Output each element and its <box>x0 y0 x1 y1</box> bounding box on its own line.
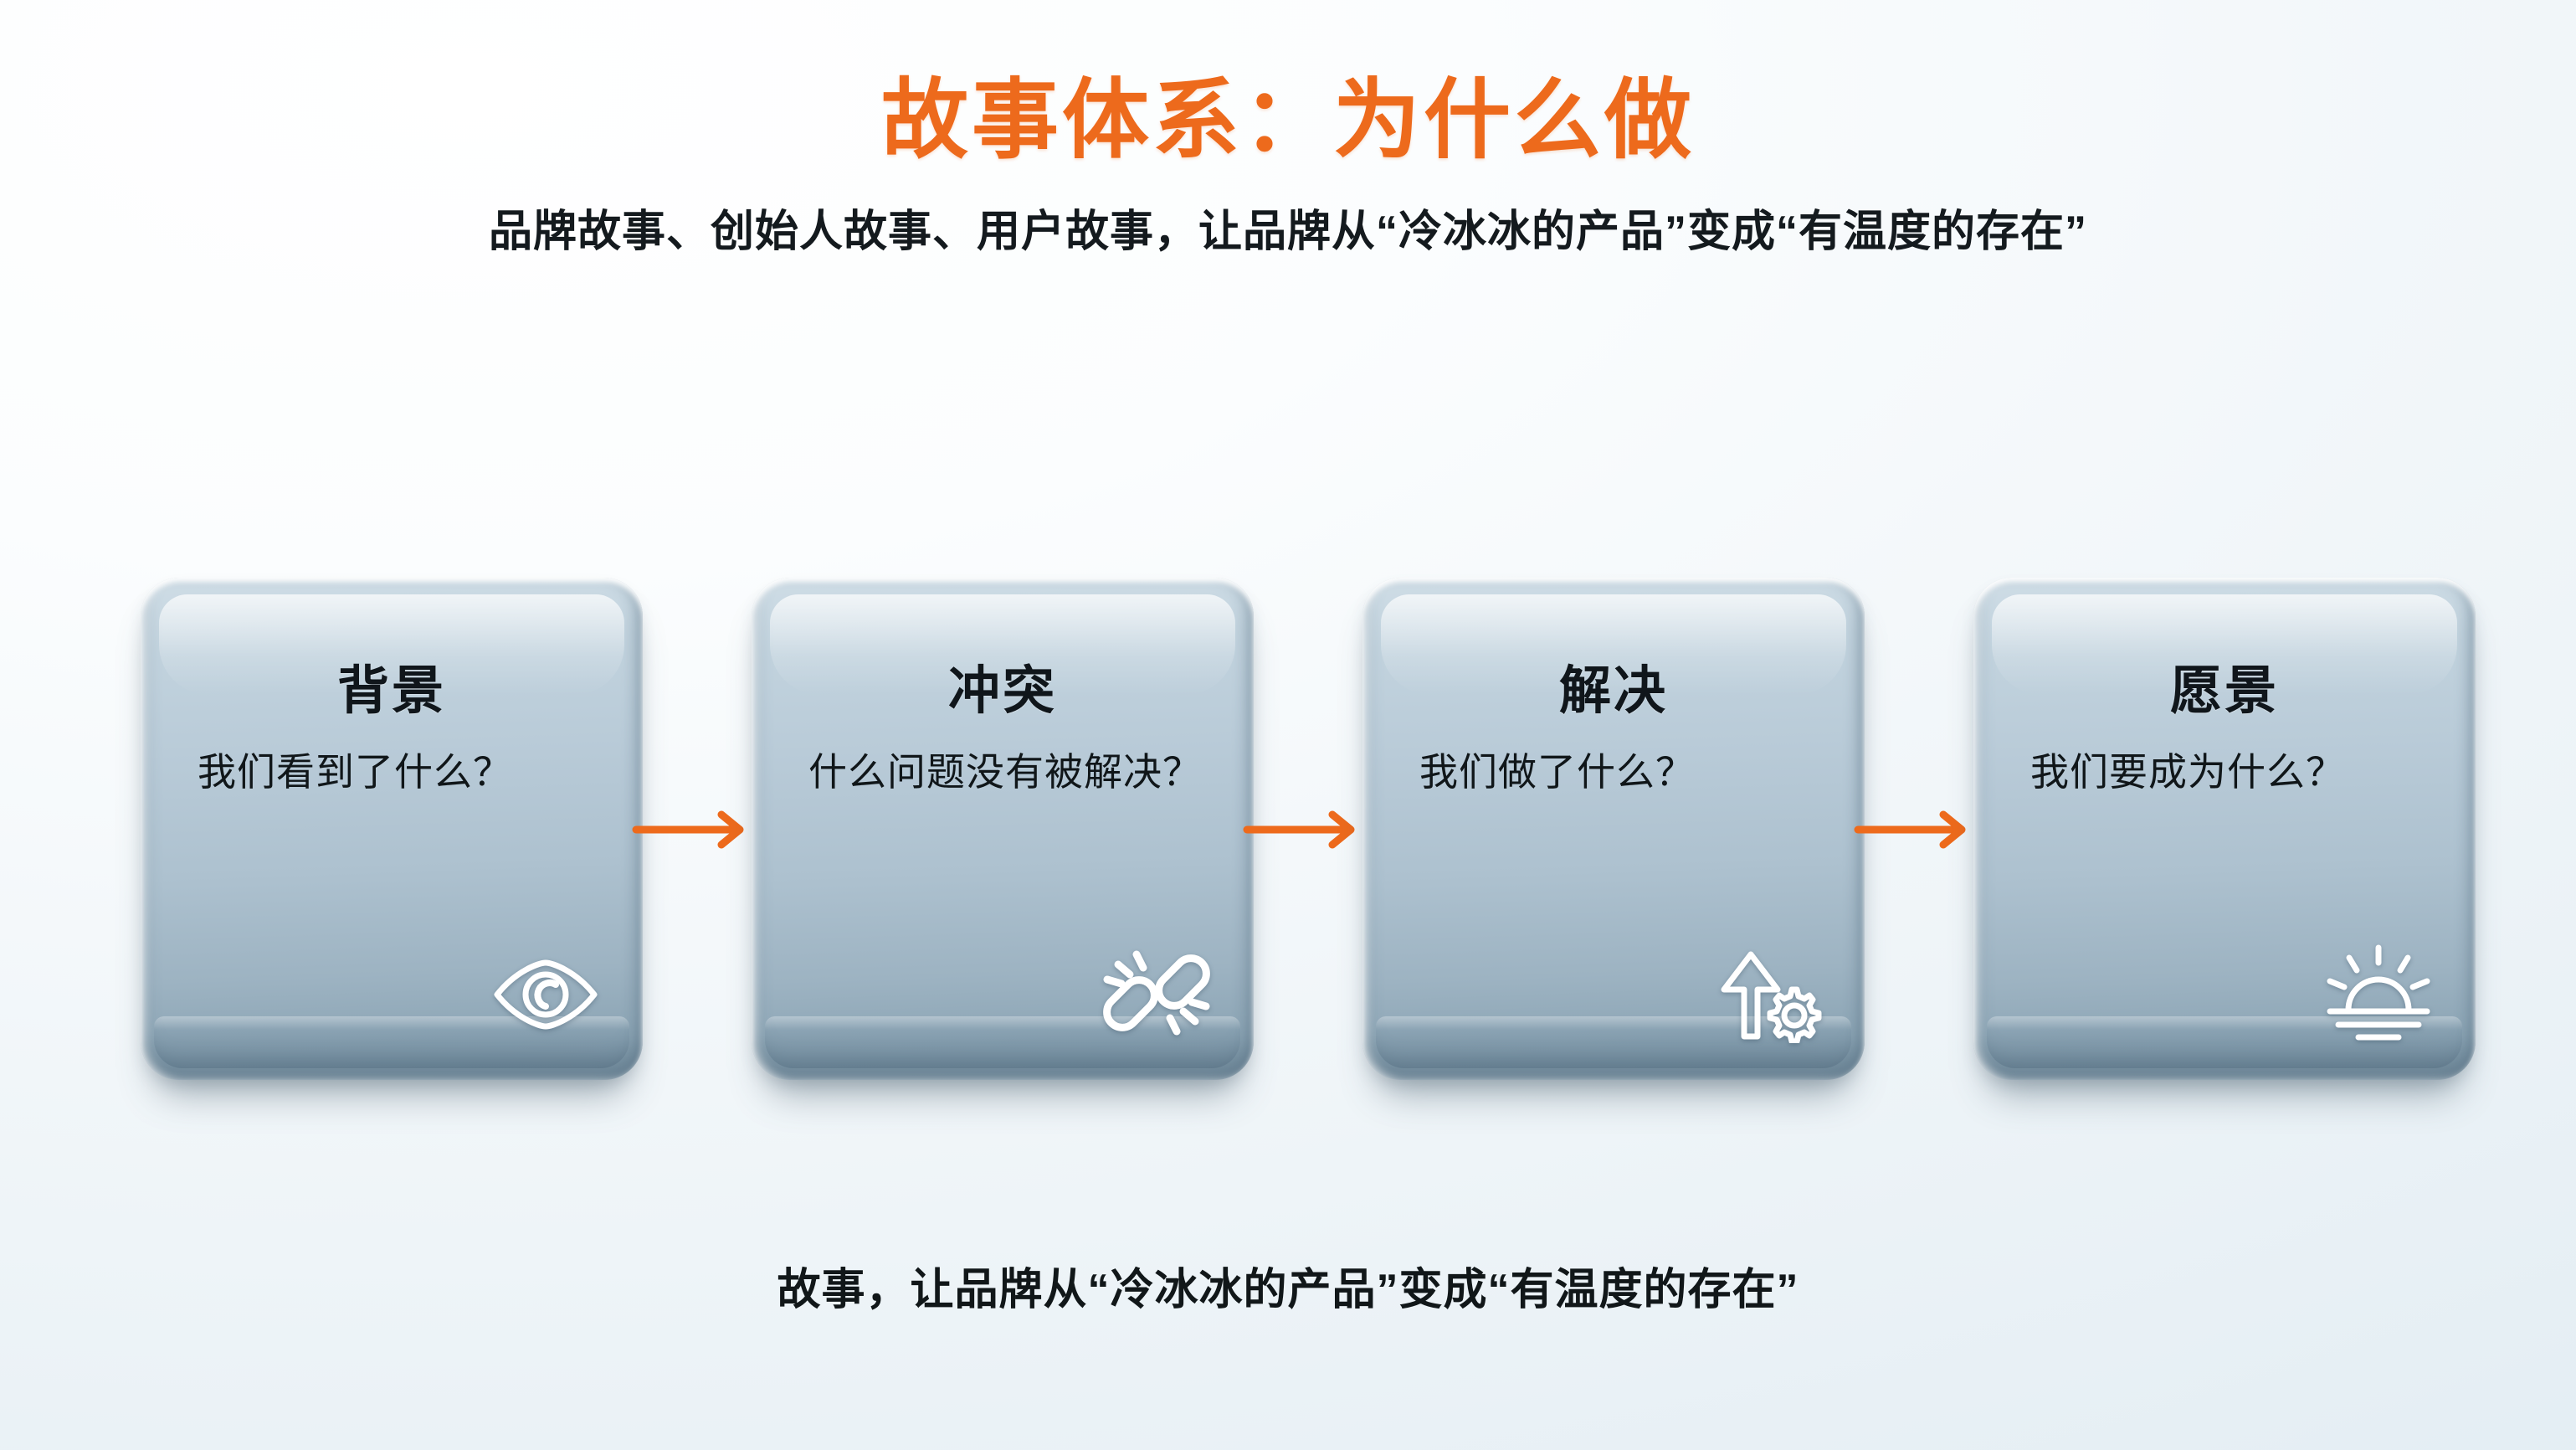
eye-icon <box>489 943 603 1043</box>
footer-caption: 故事，让品牌从“冷冰冰的产品”变成“有温度的存在” <box>0 1262 2576 1319</box>
connector-slot-3 <box>1865 578 1973 1080</box>
story-step-4[interactable]: 愿景 我们要成为什么？ <box>1973 578 2476 1080</box>
arrow-right-icon <box>631 810 765 849</box>
story-card-description: 我们看到了什么？ <box>179 745 604 800</box>
story-card-title: 背景 <box>337 663 446 720</box>
story-card-title: 冲突 <box>948 663 1057 720</box>
connector-slot-1 <box>643 578 752 1080</box>
story-card-description: 我们要成为什么？ <box>2012 745 2437 800</box>
story-card-background[interactable]: 解决 我们做了什么？ <box>1362 578 1865 1080</box>
story-card-background[interactable]: 愿景 我们要成为什么？ <box>1973 578 2476 1080</box>
arrow-right-icon <box>1242 810 1376 849</box>
story-step-3[interactable]: 解决 我们做了什么？ <box>1362 578 1865 1080</box>
story-card-title: 愿景 <box>2170 663 2279 720</box>
story-framework-row: 背景 我们看到了什么？ <box>141 578 2440 1080</box>
slide-canvas: 故事体系：为什么做 品牌故事、创始人故事、用户故事，让品牌从“冷冰冰的产品”变成… <box>0 0 2576 1450</box>
page-title: 故事体系：为什么做 <box>0 72 2576 169</box>
story-step-1[interactable]: 背景 我们看到了什么？ <box>141 578 643 1080</box>
story-card-title: 解决 <box>1559 663 1668 720</box>
arrow-right-icon <box>1853 810 1987 849</box>
story-card-background[interactable]: 背景 我们看到了什么？ <box>141 578 643 1080</box>
slide-footer: 故事，让品牌从“冷冰冰的产品”变成“有温度的存在” <box>0 1262 2576 1319</box>
story-card-description: 我们做了什么？ <box>1401 745 1826 800</box>
connector-slot-2 <box>1254 578 1362 1080</box>
arrow-up-gear-icon <box>1711 943 1824 1043</box>
story-card-background[interactable]: 冲突 什么问题没有被解决？ <box>752 578 1254 1080</box>
sunrise-icon <box>2322 943 2435 1043</box>
slide-header: 故事体系：为什么做 品牌故事、创始人故事、用户故事，让品牌从“冷冰冰的产品”变成… <box>0 72 2576 261</box>
broken-link-icon <box>1100 943 1214 1043</box>
page-subtitle: 品牌故事、创始人故事、用户故事，让品牌从“冷冰冰的产品”变成“有温度的存在” <box>0 204 2576 261</box>
story-step-2[interactable]: 冲突 什么问题没有被解决？ <box>752 578 1254 1080</box>
story-card-description: 什么问题没有被解决？ <box>790 745 1215 800</box>
